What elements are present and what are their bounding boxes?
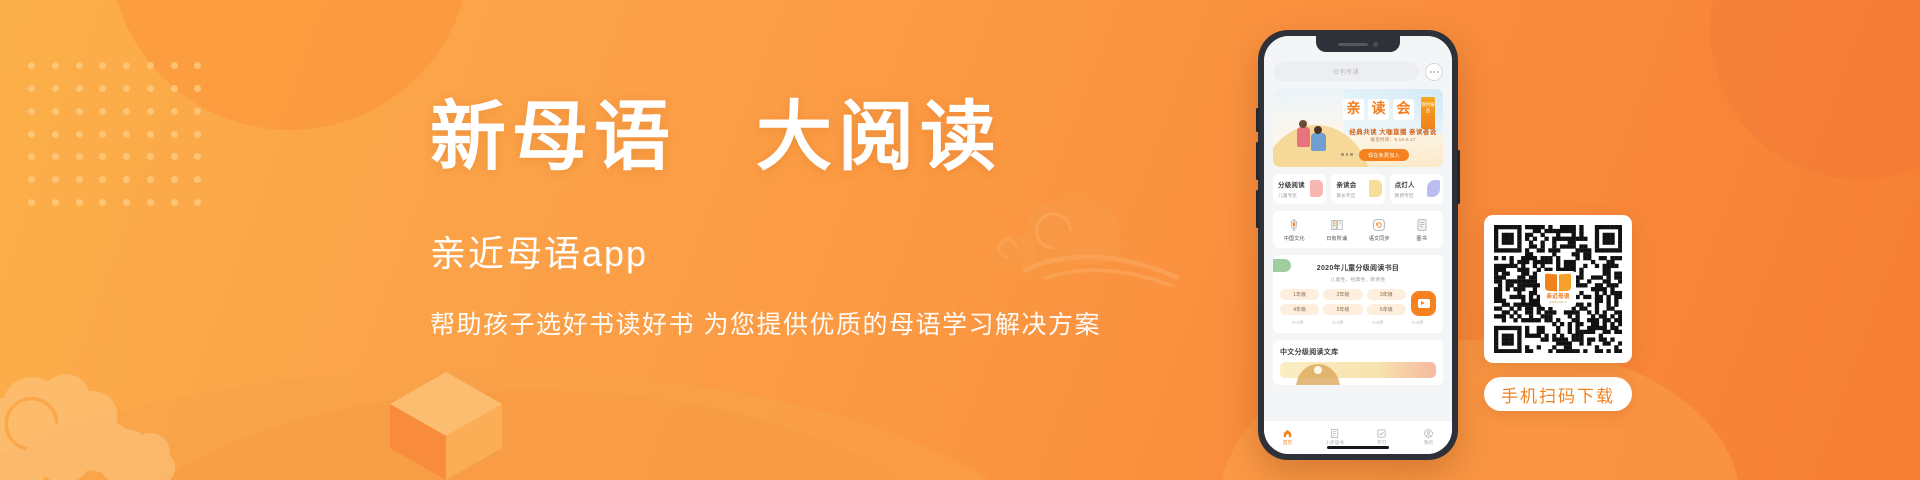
tab-label: 小步读书: [1325, 440, 1343, 446]
user-icon: [1423, 426, 1434, 437]
dot: [1430, 71, 1432, 73]
category-card-row: 分级阅读儿童专区亲读会家长专区点灯人教师专区: [1264, 167, 1452, 204]
app-name-subtitle: 亲近母语app: [430, 225, 1210, 277]
promo-cta-button[interactable]: 现在免费加入: [1359, 149, 1409, 161]
brand-name: 亲近母语: [1546, 292, 1569, 300]
grid-dot: [52, 176, 59, 183]
grid-dot: [171, 131, 178, 138]
promo-child-illustration: [1297, 127, 1310, 147]
grid-dot: [28, 85, 35, 92]
age-chip[interactable]: 0-3岁: [1280, 319, 1316, 326]
grid-dot: [123, 176, 130, 183]
grid-dot: [99, 85, 106, 92]
grid-dot: [147, 153, 154, 160]
grid-dot: [28, 199, 35, 206]
promo-subtitle: 经典共读 大咖直播 亲读者说: [1333, 126, 1443, 136]
grid-dot: [194, 131, 201, 138]
qr-code-icon[interactable]: 亲近母语 QINJIN MUYU: [1484, 215, 1632, 363]
download-button[interactable]: 手机扫码下载: [1484, 377, 1632, 411]
sync-icon: [1372, 218, 1386, 232]
hero-tagline: 帮助孩子选好书读好书 为您提供优质的母语学习解决方案: [430, 305, 1210, 341]
grid-dot: [147, 62, 154, 69]
grid-dot: [28, 176, 35, 183]
grid-dot: [194, 85, 201, 92]
notebook-icon: [1329, 426, 1340, 437]
tab-label: 我的: [1424, 440, 1433, 446]
headline-part-1: 新母语: [430, 96, 676, 180]
grid-dot: [76, 62, 83, 69]
dot: [1437, 71, 1439, 73]
quick-icon-label: 日有所诵: [1326, 235, 1347, 242]
quick-icon-item[interactable]: 语文同步: [1358, 218, 1401, 242]
grade-chip-grid: 1年级2年级3年级 4年级5年级6年级: [1280, 289, 1406, 318]
grid-dot: [52, 131, 59, 138]
book-icon: [1415, 218, 1429, 232]
grid-dot: [123, 199, 130, 206]
grid-dot: [28, 153, 35, 160]
checklist-icon: [1376, 426, 1387, 437]
tab-label: 学习: [1377, 440, 1386, 446]
grid-dot: [171, 199, 178, 206]
grid-dot: [194, 199, 201, 206]
promo-child-illustration: [1311, 133, 1326, 151]
phone-screen-frame: 日有所诵: [1264, 36, 1452, 454]
headline-part-2: 大阅读: [756, 96, 1002, 180]
tab-home[interactable]: 首页: [1264, 426, 1311, 446]
grid-dot: [194, 153, 201, 160]
child-head: [1299, 120, 1307, 128]
grid-dot: [28, 131, 35, 138]
grade-chip[interactable]: 6年级: [1367, 304, 1406, 315]
grade-chip[interactable]: 4年级: [1280, 304, 1319, 315]
grid-dot: [76, 85, 83, 92]
book-left-page: [1545, 273, 1557, 291]
grid-dot: [99, 108, 106, 115]
camera-glyph: [1418, 299, 1430, 308]
phone-power-button: [1457, 150, 1460, 204]
lantern-icon: [1287, 218, 1301, 232]
front-camera-icon: [1373, 42, 1378, 47]
app-screen: 日有所诵: [1264, 36, 1452, 454]
search-input[interactable]: 日有所诵: [1273, 62, 1419, 81]
book-right-page: [1559, 273, 1571, 291]
auspicious-cloud-icon: [0, 343, 204, 480]
earpiece-speaker: [1338, 43, 1368, 46]
phone-volume-down-button: [1256, 190, 1259, 228]
grid-dot: [76, 153, 83, 160]
phone-mockup: 日有所诵: [1258, 30, 1458, 460]
promo-title-char: 会: [1393, 99, 1414, 120]
grid-dot: [99, 131, 106, 138]
qr-download-zone: 亲近母语 QINJIN MUYU 手机扫码下载: [1484, 215, 1632, 411]
isometric-cube-shape: [386, 368, 506, 480]
grid-dot: [147, 176, 154, 183]
grid-dot: [171, 62, 178, 69]
grid-dot: [52, 85, 59, 92]
quick-icon-item[interactable]: 图书: [1401, 218, 1444, 242]
grid-dot: [171, 153, 178, 160]
library-title: 中文分级阅读文库: [1280, 347, 1436, 357]
decor-circle-top-right: [1710, 0, 1920, 180]
grid-dot: [52, 108, 59, 115]
category-card[interactable]: 分级阅读儿童专区: [1273, 174, 1326, 204]
grid-dot: [99, 153, 106, 160]
grid-dot: [194, 62, 201, 69]
child-head: [1314, 126, 1322, 134]
grade-chip[interactable]: 1年级: [1280, 289, 1319, 300]
grid-dot: [147, 131, 154, 138]
promo-carousel-dots[interactable]: [1341, 153, 1353, 156]
home-icon: [1282, 426, 1293, 437]
phone-notch: [1316, 36, 1400, 52]
quick-icon-item[interactable]: 日有所诵: [1316, 218, 1359, 242]
grid-dot: [52, 153, 59, 160]
grid-dot: [123, 62, 130, 69]
grid-dot: [76, 176, 83, 183]
grid-dot: [28, 108, 35, 115]
promo-banner: 新母语 大阅读 亲近母语app 帮助孩子选好书读好书 为您提供优质的母语学习解决…: [0, 0, 1920, 480]
grade-chip[interactable]: 5年级: [1323, 304, 1362, 315]
grid-dot: [194, 108, 201, 115]
quick-icon-item[interactable]: 中国文化: [1273, 218, 1316, 242]
age-chip[interactable]: 3-4岁: [1320, 319, 1356, 326]
grade-chip[interactable]: 2年级: [1323, 289, 1362, 300]
leaf-decoration-icon: [1273, 259, 1291, 272]
grid-dot: [171, 176, 178, 183]
open-book-icon: [1545, 274, 1571, 291]
category-card[interactable]: 点灯人教师专区: [1390, 174, 1443, 204]
grid-dot: [147, 108, 154, 115]
grid-dot: [123, 153, 130, 160]
hero-copy: 新母语 大阅读 亲近母语app 帮助孩子选好书读好书 为您提供优质的母语学习解决…: [430, 96, 1210, 341]
brand-name-en: QINJIN MUYU: [1549, 301, 1567, 304]
dot-grid-pattern: [28, 62, 218, 222]
dot: [1433, 71, 1435, 73]
page-title: 新母语 大阅读: [430, 96, 1210, 181]
library-card[interactable]: 中文分级阅读文库: [1273, 340, 1443, 385]
category-card-badge-icon: [1310, 180, 1323, 197]
grade-chip[interactable]: 3年级: [1367, 289, 1406, 300]
quick-icon-label: 图书: [1417, 235, 1427, 242]
grid-dot: [147, 199, 154, 206]
quick-icon-label: 中国文化: [1284, 235, 1305, 242]
grid-dot: [28, 62, 35, 69]
grid-dot: [76, 199, 83, 206]
booklist-subtitle: 儿童性、经典性、教育性: [1280, 276, 1436, 283]
grid-dot: [123, 108, 130, 115]
grade-row-2: 4年级5年级6年级: [1280, 304, 1406, 315]
grid-dot: [194, 176, 201, 183]
grid-dot: [171, 85, 178, 92]
category-card-badge-icon: [1369, 180, 1382, 197]
promo-date: 报名时间：9.16-9.27: [1333, 137, 1443, 143]
grid-dot: [123, 85, 130, 92]
age-chip[interactable]: 5-6岁: [1400, 319, 1436, 326]
grid-dot: [99, 199, 106, 206]
grid-dot: [99, 176, 106, 183]
grid-dot: [52, 199, 59, 206]
quick-icon-label: 语文同步: [1369, 235, 1390, 242]
promo-title-char: 亲: [1343, 99, 1364, 120]
home-indicator: [1327, 446, 1389, 449]
category-card[interactable]: 亲读会家长专区: [1331, 174, 1384, 204]
grade-row-1: 1年级2年级3年级: [1280, 289, 1406, 300]
search-placeholder: 日有所诵: [1333, 67, 1359, 76]
video-play-icon[interactable]: [1411, 291, 1436, 316]
grid-dot: [123, 131, 130, 138]
tab-label: 首页: [1283, 440, 1292, 446]
grid-dot: [147, 85, 154, 92]
grid-dot: [76, 108, 83, 115]
age-range-row: 0-3岁3-4岁4-5岁5-6岁: [1280, 319, 1436, 326]
booklist-title: 2020年儿童分级阅读书目: [1280, 263, 1436, 273]
grid-dot: [76, 131, 83, 138]
grid-dot: [52, 62, 59, 69]
phone-mute-button: [1256, 108, 1259, 132]
promo-title: 亲读会: [1343, 99, 1414, 120]
message-dots-icon[interactable]: [1425, 63, 1443, 81]
quick-icon-row: 中国文化日有所诵语文同步图书: [1273, 211, 1443, 248]
open-book-icon: [1330, 218, 1344, 232]
promo-card[interactable]: 亲读会 限时报名 经典共读 大咖直播 亲读者说 报名时间：9.16-9.27 现…: [1273, 89, 1443, 167]
age-chip[interactable]: 4-5岁: [1360, 319, 1396, 326]
tab-checklist[interactable]: 学习: [1358, 426, 1405, 446]
grade-selector: 1年级2年级3年级 4年级5年级6年级: [1280, 289, 1436, 318]
library-dot: [1314, 366, 1322, 374]
tab-notebook[interactable]: 小步读书: [1311, 426, 1358, 446]
search-row: 日有所诵: [1264, 58, 1452, 89]
phone-volume-up-button: [1256, 142, 1259, 180]
brand-logo: 亲近母语 QINJIN MUYU: [1540, 271, 1576, 307]
promo-ribbon: 限时报名: [1421, 97, 1435, 129]
dot: [1341, 153, 1344, 156]
promo-title-char: 读: [1368, 99, 1389, 120]
grid-dot: [171, 108, 178, 115]
grid-dot: [99, 62, 106, 69]
tab-user[interactable]: 我的: [1405, 426, 1452, 446]
booklist-card[interactable]: 2020年儿童分级阅读书目 儿童性、经典性、教育性 1年级2年级3年级 4年级5…: [1273, 255, 1443, 333]
library-illustration: [1280, 362, 1436, 378]
dot: [1350, 153, 1353, 156]
dot: [1346, 153, 1349, 156]
